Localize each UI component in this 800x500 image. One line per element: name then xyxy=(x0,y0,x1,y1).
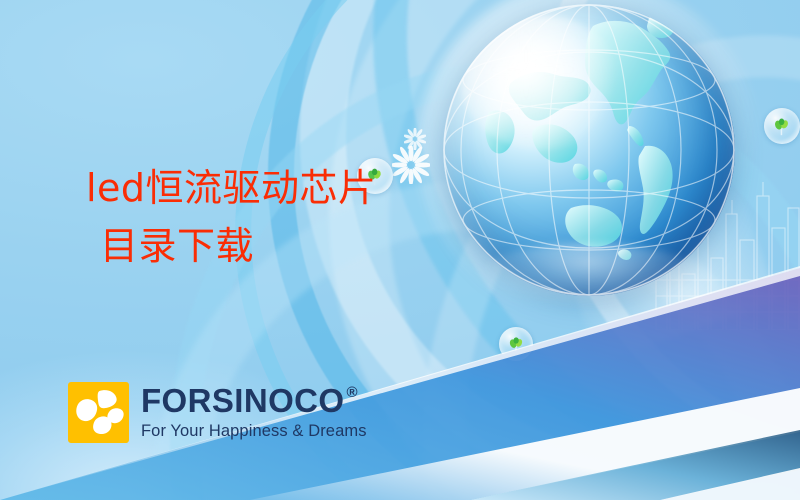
logo-text-block: FORSINOCO ® For Your Happiness & Dreams xyxy=(141,382,367,441)
four-petal-pinwheel-icon xyxy=(68,382,129,443)
bubble-plant-right-edge xyxy=(764,108,800,144)
brand-tagline: For Your Happiness & Dreams xyxy=(141,422,367,441)
green-plant-icon xyxy=(506,334,527,355)
page-title: led恒流驱动芯片 目录下载 xyxy=(86,160,516,276)
slide-canvas: led恒流驱动芯片 目录下载 FORSINOCO ® For Your Happ… xyxy=(0,0,800,500)
flower-sparkle-small-icon xyxy=(404,128,426,150)
brand-name: FORSINOCO ® xyxy=(141,384,367,417)
title-line-1: led恒流驱动芯片 xyxy=(86,166,377,210)
company-logo: FORSINOCO ® For Your Happiness & Dreams xyxy=(68,382,367,443)
title-line-2: 目录下载 xyxy=(86,218,516,276)
brand-word: FORSINOCO xyxy=(141,384,344,417)
registered-mark: ® xyxy=(346,385,357,400)
green-plant-icon xyxy=(771,115,793,137)
bubble-plant-left xyxy=(499,327,533,361)
